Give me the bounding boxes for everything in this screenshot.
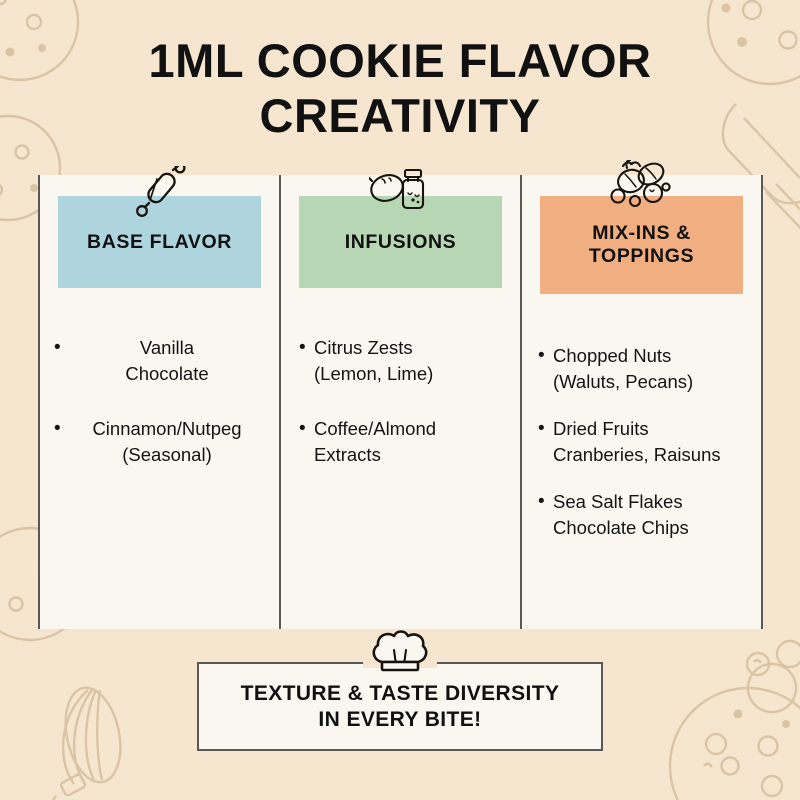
column-header-label-line-1: MIX-INS &: [592, 222, 691, 244]
list-item-line: (Lemon, Lime): [314, 361, 506, 387]
list-item-line: Vanilla: [69, 335, 265, 361]
list-item: • Coffee/Almond Extracts: [299, 416, 506, 467]
column-infusions: INFUSIONS • Citrus Zests (Lemon, Lime) •…: [279, 175, 520, 629]
list-item-line: Chocolate: [69, 361, 265, 387]
page-title-text: 1ML COOKIE FLAVOR CREATIVITY: [0, 34, 800, 143]
list-item: • Sea Salt Flakes Chocolate Chips: [538, 489, 755, 540]
list-item-line: Cranberies, Raisuns: [553, 442, 755, 468]
column-header-label-line-2: TOPPINGS: [589, 245, 694, 267]
list-item-line: (Waluts, Pecans): [553, 369, 755, 395]
page-title-line-1: 1ML COOKIE FLAVOR: [149, 34, 652, 87]
footer-line-2: IN EVERY BITE!: [318, 708, 481, 731]
column-header-label: MIX-INS & TOPPINGS: [583, 222, 700, 268]
footer-line-1: TEXTURE & TASTE DIVERSITY: [241, 682, 560, 705]
flavor-table-card: BASE FLAVOR • Vanilla Chocolate • Cinnam…: [38, 175, 763, 629]
list-item-line: Citrus Zests: [314, 335, 506, 361]
footer-banner-text: TEXTURE & TASTE DIVERSITY IN EVERY BITE!: [241, 681, 560, 732]
chocolate-chips-icon: [747, 641, 800, 712]
list-item: • Citrus Zests (Lemon, Lime): [299, 335, 506, 386]
bullet-dot-icon: •: [538, 489, 553, 515]
column-header-mix-ins-and-toppings: MIX-INS & TOPPINGS: [540, 196, 743, 294]
column-mix-ins-and-toppings: MIX-INS & TOPPINGS • Chopped Nuts (Walut…: [520, 175, 763, 629]
list-item: • Dried Fruits Cranberies, Raisuns: [538, 416, 755, 467]
column-base-flavor: BASE FLAVOR • Vanilla Chocolate • Cinnam…: [38, 175, 279, 629]
list-item-line: (Seasonal): [69, 442, 265, 468]
column-header-base-flavor: BASE FLAVOR: [58, 196, 261, 288]
column-body-mix-ins-and-toppings: • Chopped Nuts (Waluts, Pecans) • Dried …: [522, 343, 761, 562]
list-item-line: Dried Fruits: [553, 416, 755, 442]
bullet-dot-icon: •: [299, 416, 314, 442]
column-body-base-flavor: • Vanilla Chocolate • Cinnamon/Nutpeg (S…: [40, 335, 279, 497]
bullet-dot-icon: •: [299, 335, 314, 361]
page-title: 1ML COOKIE FLAVOR CREATIVITY: [0, 34, 800, 143]
bullet-dot-icon: •: [54, 416, 69, 442]
column-header-infusions: INFUSIONS: [299, 196, 502, 288]
list-item-line: Coffee/Almond: [314, 416, 506, 442]
nuts-and-chocolate-chips-icon: [540, 160, 743, 214]
list-item: • Vanilla Chocolate: [54, 335, 265, 386]
list-item-line: Chocolate Chips: [553, 515, 755, 541]
list-item-line: Sea Salt Flakes: [553, 489, 755, 515]
bullet-dot-icon: •: [54, 335, 69, 361]
column-header-label: BASE FLAVOR: [81, 231, 238, 254]
page-title-line-2: CREATIVITY: [260, 89, 541, 142]
list-item: • Chopped Nuts (Waluts, Pecans): [538, 343, 755, 394]
chef-hat-icon: [197, 630, 603, 676]
list-item-line: Chopped Nuts: [553, 343, 755, 369]
column-body-infusions: • Citrus Zests (Lemon, Lime) • Coffee/Al…: [281, 335, 520, 497]
cookie-icon: [670, 688, 800, 800]
bullet-dot-icon: •: [538, 416, 553, 442]
list-item: • Cinnamon/Nutpeg (Seasonal): [54, 416, 265, 467]
bullet-dot-icon: •: [538, 343, 553, 369]
whisk-icon: [34, 683, 128, 800]
list-item-line: Extracts: [314, 442, 506, 468]
lemon-and-extract-bottle-icon: [299, 166, 502, 216]
rolling-pin-icon: [58, 166, 261, 222]
list-item-line: Cinnamon/Nutpeg: [69, 416, 265, 442]
column-header-label: INFUSIONS: [339, 231, 463, 254]
